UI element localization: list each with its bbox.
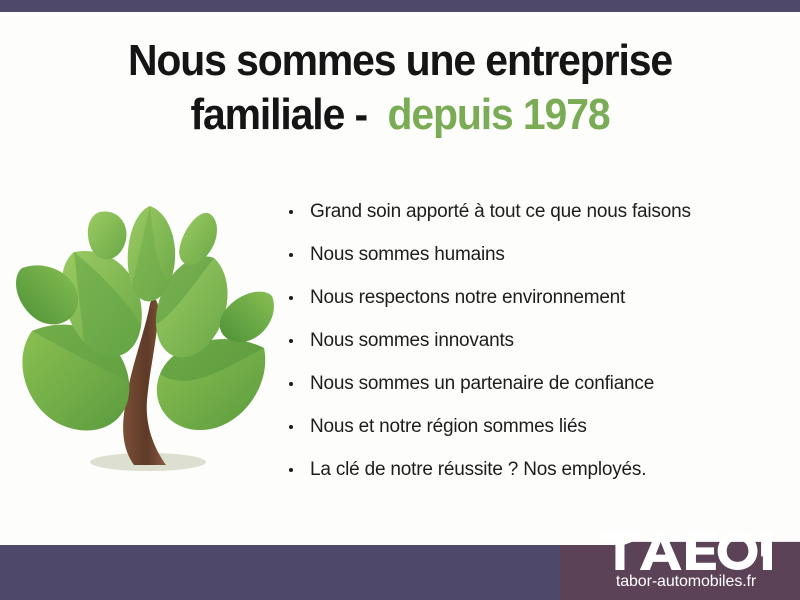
tree-leaf-top-left — [88, 211, 127, 259]
list-item-label: Nous sommes un partenaire de confiance — [310, 373, 654, 394]
list-item: Nous sommes humains — [286, 233, 766, 276]
list-item: Nous respectons notre environnement — [286, 276, 766, 319]
headline-line-1: Nous sommes une entreprise — [65, 34, 735, 88]
list-item-label: La clé de notre réussite ? Nos employés. — [310, 459, 646, 480]
list-item: Nous sommes innovants — [286, 319, 766, 362]
bullet-dot-icon — [289, 339, 293, 343]
headline-accent-since-year: depuis 1978 — [387, 90, 609, 139]
bullet-dot-icon — [289, 253, 293, 257]
page-title: Nous sommes une entreprise familiale - d… — [65, 34, 735, 142]
bullet-dot-icon — [289, 296, 293, 300]
list-item-label: Nous sommes innovants — [310, 330, 514, 351]
bullet-dot-icon — [289, 425, 293, 429]
list-item-label: Nous sommes humains — [310, 244, 505, 265]
slide-canvas: Nous sommes une entreprise familiale - d… — [0, 0, 800, 600]
value-bullet-list: Grand soin apporté à tout ce que nous fa… — [286, 190, 766, 491]
top-accent-band — [0, 0, 800, 12]
tree-leaf-far-right — [220, 292, 274, 342]
headline-line-2: familiale - depuis 1978 — [65, 88, 735, 142]
list-item-label: Nous et notre région sommes liés — [310, 416, 587, 437]
bullet-dot-icon — [289, 468, 293, 472]
headline-spacer — [367, 90, 388, 139]
tree-leaf-top-right — [179, 213, 217, 265]
headline-line-2-main: familiale - — [190, 90, 366, 139]
list-item: Grand soin apporté à tout ce que nous fa… — [286, 190, 766, 233]
list-item: La clé de notre réussite ? Nos employés. — [286, 448, 766, 491]
bullet-dot-icon — [289, 382, 293, 386]
list-item-label: Grand soin apporté à tout ce que nous fa… — [310, 201, 691, 222]
list-item: Nous sommes un partenaire de confiance — [286, 362, 766, 405]
tree-illustration — [14, 186, 282, 486]
list-item-label: Nous respectons notre environnement — [310, 287, 625, 308]
bullet-dot-icon — [289, 210, 293, 214]
list-item: Nous et notre région sommes liés — [286, 405, 766, 448]
